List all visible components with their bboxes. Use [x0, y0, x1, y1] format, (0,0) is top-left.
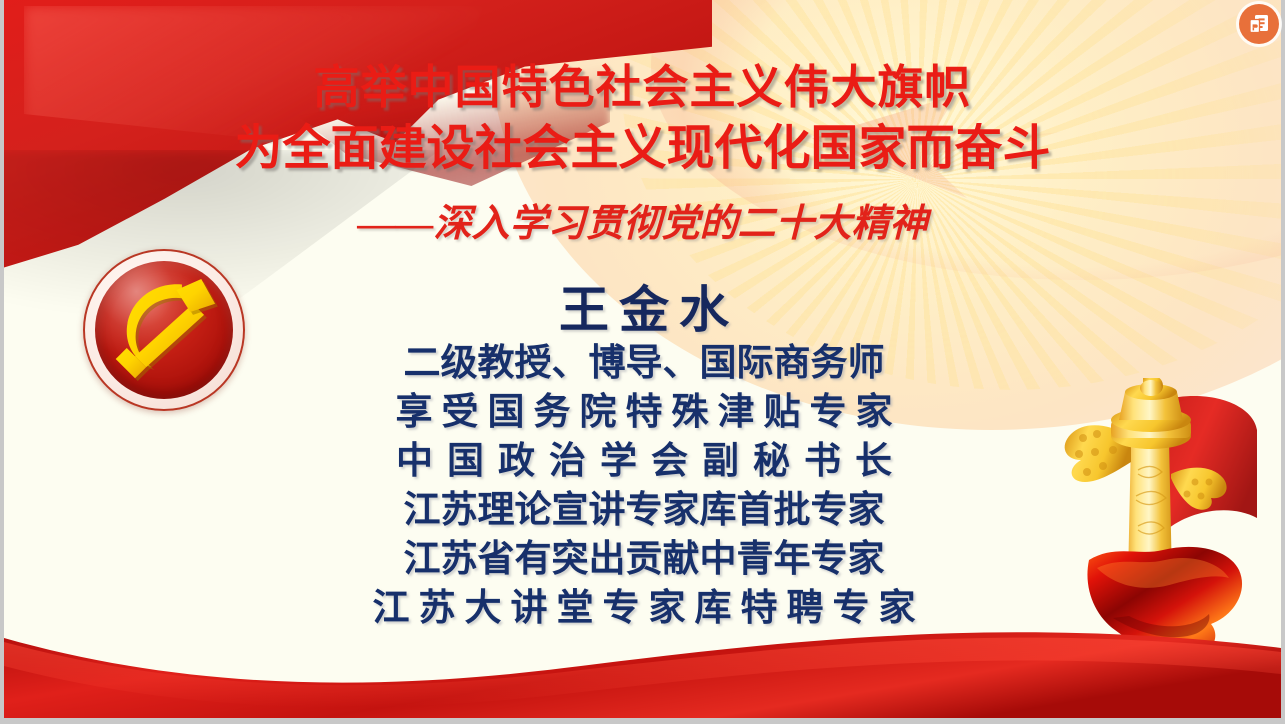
powerpoint-icon[interactable] — [1239, 4, 1279, 44]
speaker-credential-4: 江苏理论宣讲专家库首批专家 — [304, 486, 984, 535]
speaker-credential-6: 江苏大讲堂专家库特聘专家 — [304, 584, 984, 633]
sunburst-rays-decoration — [621, 0, 1281, 390]
speaker-block: 王金水 二级教授、博导、国际商务师 享受国务院特殊津贴专家 中国政治学会副秘书长… — [304, 281, 984, 633]
speaker-credential-2: 享受国务院特殊津贴专家 — [304, 388, 984, 437]
warm-haze-arc-decoration — [651, 0, 1281, 280]
speaker-name: 王金水 — [304, 281, 984, 339]
speaker-credential-5: 江苏省有突出贡献中青年专家 — [304, 535, 984, 584]
slide-title: 高举中国特色社会主义伟大旗帜 为全面建设社会主义现代化国家而奋斗 — [4, 56, 1281, 180]
party-emblem-badge — [83, 249, 245, 411]
sunburst-decoration — [491, 0, 1281, 430]
hammer-sickle-icon — [95, 261, 233, 399]
red-flag-highlight — [24, 6, 484, 156]
golden-huabiao-column-icon — [1043, 378, 1257, 718]
bottom-red-wave — [4, 590, 1281, 718]
speaker-credential-1: 二级教授、博导、国际商务师 — [304, 339, 984, 388]
presentation-slide: 高举中国特色社会主义伟大旗帜 为全面建设社会主义现代化国家而奋斗 ——深入学习贯… — [4, 0, 1281, 718]
speaker-credential-3: 中国政治学会副秘书长 — [304, 437, 984, 486]
slide-subtitle: ——深入学习贯彻党的二十大精神 — [4, 198, 1281, 250]
title-line-1: 高举中国特色社会主义伟大旗帜 — [4, 56, 1281, 118]
red-star-silhouette-icon — [812, 88, 1062, 198]
title-line-2: 为全面建设社会主义现代化国家而奋斗 — [4, 118, 1281, 180]
red-flag-fold-shadow — [280, 30, 610, 230]
